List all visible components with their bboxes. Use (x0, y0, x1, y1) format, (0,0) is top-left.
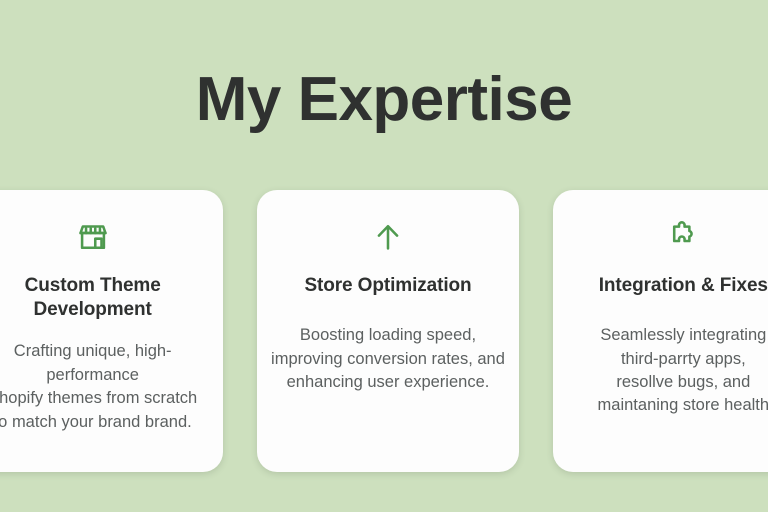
arrow-up-icon (371, 220, 405, 254)
card-title: Custom Theme Development (25, 274, 161, 322)
puzzle-piece-icon (666, 220, 700, 254)
card-description: Seamlessly integrating third-parrty apps… (598, 324, 768, 418)
expertise-card-custom-theme-development[interactable]: Custom Theme Development Crafting unique… (0, 190, 223, 472)
expertise-card-store-optimization[interactable]: Store Optimization Boosting loading spee… (257, 190, 518, 472)
expertise-section: My Expertise Custom Theme Development Cr… (0, 0, 768, 512)
card-title: Integration & Fixes (599, 274, 768, 298)
card-description: Boosting loading speed, improving conver… (271, 324, 505, 394)
card-title: Store Optimization (304, 274, 471, 298)
expertise-card-list: Custom Theme Development Crafting unique… (0, 190, 768, 472)
page-title: My Expertise (0, 66, 768, 134)
storefront-icon (76, 220, 110, 254)
card-description: Crafting unique, high-performance Shopif… (0, 340, 211, 434)
expertise-card-integration-and-fixes[interactable]: Integration & Fixes Seamlessly integrati… (553, 190, 768, 472)
